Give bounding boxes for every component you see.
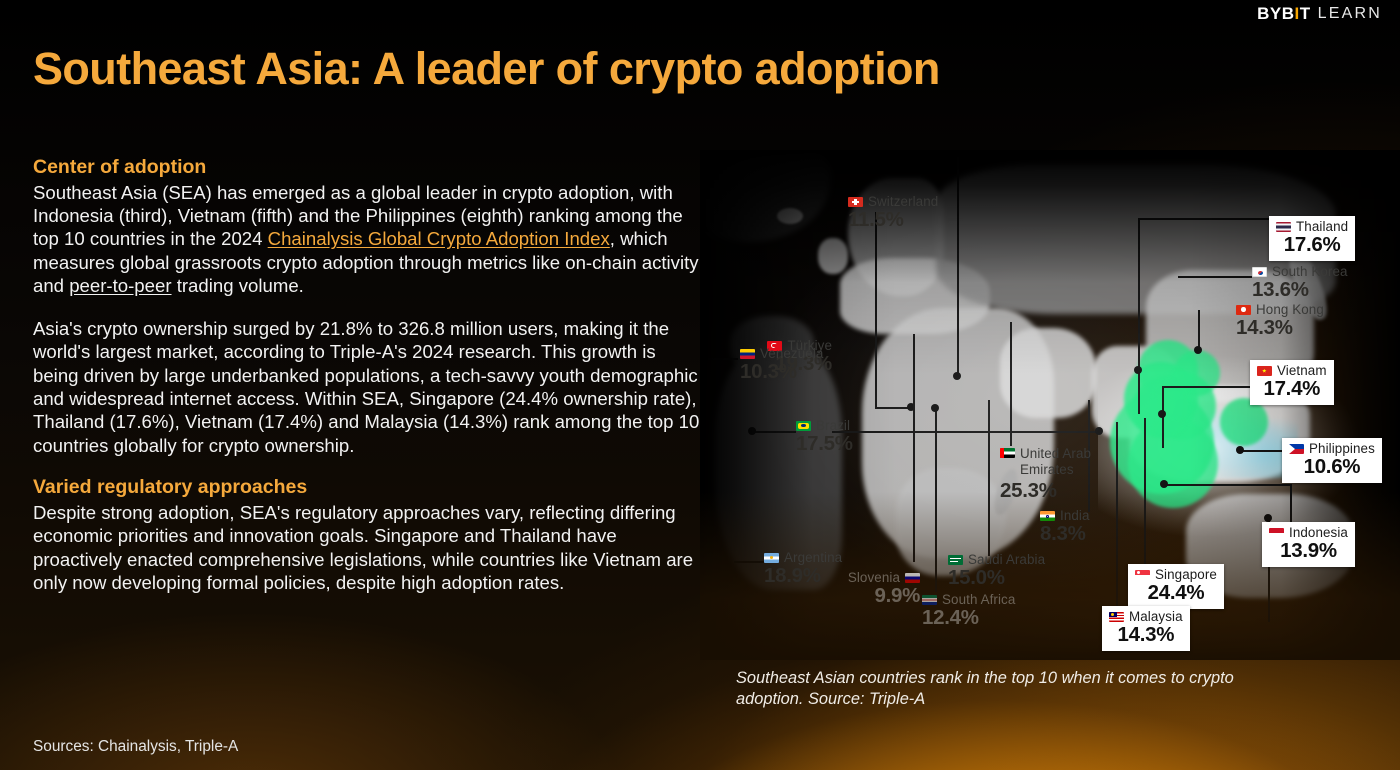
text-run-3: trading volume. <box>172 275 304 296</box>
map-label-hong-kong-name: Hong Kong <box>1256 302 1324 317</box>
map-label-philippines-name: Philippines <box>1309 441 1375 456</box>
connector-hong-kong-v <box>1198 310 1200 348</box>
map-label-hong-kong-value: 14.3% <box>1236 317 1324 340</box>
map-label-hong-kong[interactable]: Hong Kong 14.3% <box>1236 302 1324 340</box>
map-label-switzerland-value: 11.5% <box>848 209 938 232</box>
connector-turkiye-h <box>832 431 1099 433</box>
article-body: Center of adoption Southeast Asia (SEA) … <box>33 155 701 594</box>
paragraph-spacer <box>33 298 701 317</box>
sources-footer: Sources: Chainalysis, Triple-A <box>33 738 238 756</box>
map-label-brazil[interactable]: Brazil 17.5% <box>796 418 853 456</box>
world-map-figure: Switzerland 11.5% Türkiye 19.3% Venezuel… <box>700 150 1400 660</box>
logo-learn-text: LEARN <box>1318 5 1382 23</box>
connector-singapore-v <box>1144 418 1146 566</box>
map-label-argentina-name: Argentina <box>784 550 842 565</box>
map-label-south-korea-name: South Korea <box>1272 264 1348 279</box>
logo-text-post: T <box>1300 4 1311 23</box>
connector-europe-north-v <box>957 150 959 376</box>
flag-malaysia-icon <box>1109 612 1124 622</box>
map-label-indonesia-value: 13.9% <box>1269 540 1348 563</box>
marker-vietnam <box>1158 410 1166 418</box>
map-label-indonesia-name: Indonesia <box>1289 525 1348 540</box>
connector-malaysia-v <box>1116 422 1118 608</box>
flag-saudi-arabia-icon <box>948 555 963 565</box>
connector-switzerland-h <box>875 407 911 409</box>
figure-caption: Southeast Asian countries rank in the to… <box>736 668 1256 711</box>
paragraph-center-of-adoption-2: Asia's crypto ownership surged by 21.8% … <box>33 317 701 458</box>
map-label-singapore[interactable]: Singapore 24.4% <box>1128 564 1224 609</box>
map-label-malaysia[interactable]: Malaysia 14.3% <box>1102 606 1190 651</box>
map-label-saudi-arabia-value: 15.0% <box>948 567 1045 590</box>
link-chainalysis-index[interactable]: Chainalysis Global Crypto Adoption Index <box>268 228 610 249</box>
landmass-iceland <box>777 208 803 224</box>
marker-thailand <box>1134 366 1142 374</box>
flag-south-korea-icon <box>1252 267 1267 277</box>
map-label-venezuela[interactable]: Venezuela 10.3% <box>740 346 823 384</box>
paragraph-center-of-adoption-1: Southeast Asia (SEA) has emerged as a gl… <box>33 181 701 298</box>
connector-indonesia-h <box>1164 484 1290 486</box>
flag-hong-kong-icon <box>1236 305 1251 315</box>
map-label-saudi-arabia-name: Saudi Arabia <box>968 552 1045 567</box>
map-label-malaysia-name: Malaysia <box>1129 609 1183 624</box>
connector-thailand-v1 <box>1138 368 1140 414</box>
map-label-switzerland-name: Switzerland <box>868 194 938 209</box>
marker-brazil <box>748 427 756 435</box>
marker-south-africa <box>931 404 939 412</box>
map-label-south-africa-value: 12.4% <box>922 607 1015 630</box>
bybit-learn-logo: BYBIT LEARN <box>1257 4 1382 24</box>
map-label-brazil-name: Brazil <box>816 418 850 433</box>
bybit-wordmark: BYBIT <box>1257 4 1311 24</box>
map-label-vietnam-name: Vietnam <box>1277 363 1327 378</box>
map-label-venezuela-value: 10.3% <box>740 361 823 384</box>
paragraph-varied-regulatory-approaches: Despite strong adoption, SEA's regulator… <box>33 501 701 595</box>
connector-brazil-h <box>752 431 796 433</box>
map-label-malaysia-value: 14.3% <box>1109 624 1183 647</box>
map-label-brazil-value: 17.5% <box>796 433 853 456</box>
connector-argentina-h <box>734 561 764 563</box>
map-label-thailand-name: Thailand <box>1296 219 1348 234</box>
map-label-vietnam[interactable]: Vietnam 17.4% <box>1250 360 1334 405</box>
map-label-slovenia[interactable]: Slovenia 9.9% <box>828 570 920 608</box>
map-label-venezuela-name: Venezuela <box>760 346 823 361</box>
link-peer-to-peer[interactable]: peer-to-peer <box>69 275 171 296</box>
connector-uae-v <box>1010 322 1012 446</box>
flag-uae-icon <box>1000 448 1015 458</box>
flag-brazil-icon <box>796 421 811 431</box>
map-label-uae-value: 25.3% <box>1000 480 1104 503</box>
landmass-greenland <box>700 150 830 242</box>
section-spacer <box>33 457 701 475</box>
map-label-vietnam-value: 17.4% <box>1257 378 1327 401</box>
marker-turkiye <box>1095 427 1103 435</box>
map-label-south-korea[interactable]: South Korea 13.6% <box>1252 264 1348 302</box>
map-label-philippines[interactable]: Philippines 10.6% <box>1282 438 1382 483</box>
map-label-south-africa[interactable]: South Africa 12.4% <box>922 592 1015 630</box>
map-label-thailand-value: 17.6% <box>1276 234 1348 257</box>
flag-singapore-icon <box>1135 570 1150 580</box>
map-label-indonesia[interactable]: Indonesia 13.9% <box>1262 522 1355 567</box>
connector-venezuela-h <box>708 358 738 360</box>
flag-thailand-icon <box>1276 222 1291 232</box>
section-heading-center-of-adoption: Center of adoption <box>33 155 701 180</box>
map-label-india-name: India <box>1060 508 1090 523</box>
map-label-slovenia-name: Slovenia <box>848 570 900 585</box>
map-label-switzerland[interactable]: Switzerland 11.5% <box>848 194 938 232</box>
connector-thailand-v2 <box>1138 218 1140 370</box>
landmass-british-isles <box>818 238 848 274</box>
map-label-uae[interactable]: United Arab Emirates 25.3% <box>1000 446 1104 503</box>
map-label-singapore-value: 24.4% <box>1135 582 1217 605</box>
connector-thailand-h <box>1138 218 1270 220</box>
connector-indonesia-v <box>1290 484 1292 526</box>
flag-indonesia-icon <box>1269 528 1284 538</box>
map-label-south-africa-name: South Africa <box>942 592 1015 607</box>
map-label-singapore-name: Singapore <box>1155 567 1217 582</box>
flag-switzerland-icon <box>848 197 863 207</box>
logo-text-pre: BYB <box>1257 4 1294 23</box>
flag-argentina-icon <box>764 553 779 563</box>
marker-philippines <box>1236 446 1244 454</box>
connector-south-korea-h <box>1178 276 1252 278</box>
map-label-thailand[interactable]: Thailand 17.6% <box>1269 216 1355 261</box>
marker-indonesia <box>1160 480 1168 488</box>
map-label-slovenia-value: 9.9% <box>828 585 920 608</box>
connector-saudi-v <box>988 400 990 556</box>
connector-south-africa-v <box>935 408 937 592</box>
marker-europe-north <box>953 372 961 380</box>
flag-india-icon <box>1040 511 1055 521</box>
section-heading-varied-regulatory-approaches: Varied regulatory approaches <box>33 475 701 500</box>
map-label-saudi-arabia[interactable]: Saudi Arabia 15.0% <box>948 552 1045 590</box>
map-label-philippines-value: 10.6% <box>1289 456 1375 479</box>
flag-venezuela-icon <box>740 349 755 359</box>
flag-slovenia-icon <box>905 573 920 583</box>
bubble-philippines <box>1220 398 1268 446</box>
marker-hong-kong <box>1194 346 1202 354</box>
flag-vietnam-icon <box>1257 366 1272 376</box>
map-label-india[interactable]: India 8.3% <box>1040 508 1090 546</box>
page-title: Southeast Asia: A leader of crypto adopt… <box>33 44 940 94</box>
connector-switzerland-v <box>875 212 877 408</box>
marker-australia <box>1264 514 1272 522</box>
flag-philippines-icon <box>1289 444 1304 454</box>
connector-slovenia-v <box>913 334 915 562</box>
map-label-uae-name: United Arab Emirates <box>1020 446 1100 479</box>
landmass-arabia <box>1000 328 1096 418</box>
map-label-india-value: 8.3% <box>1040 523 1090 546</box>
flag-south-africa-icon <box>922 595 937 605</box>
map-label-south-korea-value: 13.6% <box>1252 279 1348 302</box>
